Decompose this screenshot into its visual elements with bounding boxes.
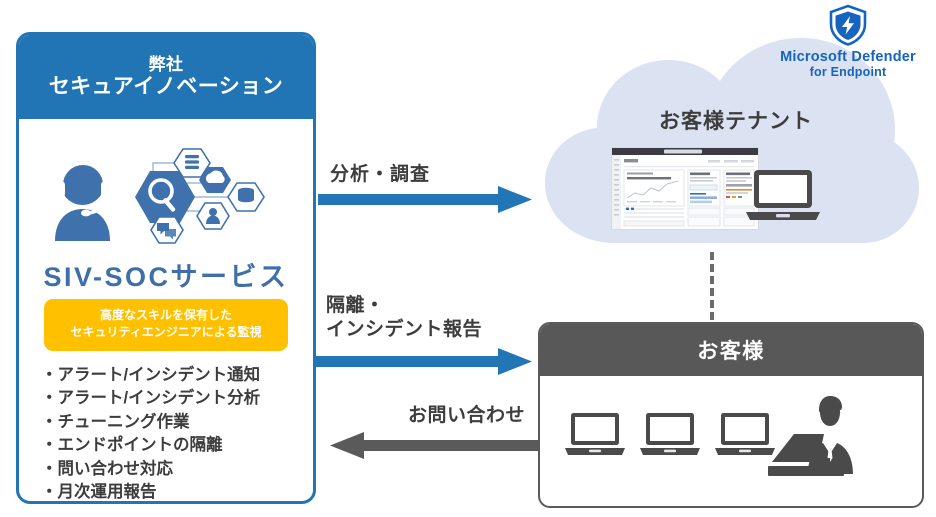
laptop-icon	[744, 168, 822, 224]
inquiry-arrow-icon	[330, 432, 542, 460]
skill-badge-line1: 高度なスキルを保有した	[48, 307, 284, 324]
person-working-icon	[768, 394, 880, 486]
company-panel-body: SIV-SOCサービス 高度なスキルを保有した セキュリティエンジニアによる監視…	[19, 119, 313, 501]
inquiry-arrow-label: お問い合わせ	[408, 404, 525, 428]
cloud-title: お客様テナント	[636, 105, 836, 135]
skill-badge-line2: セキュリティエンジニアによる監視	[48, 324, 284, 341]
defender-title: Microsoft Defender	[766, 49, 930, 65]
diagram-canvas: お客様テナント	[0, 0, 936, 517]
laptop-icon	[714, 412, 776, 456]
person-at-desk-icon	[768, 394, 880, 486]
company-name-line1: 弊社	[149, 55, 184, 75]
company-panel: 弊社 セキュアイノベーション	[16, 32, 316, 504]
skill-badge: 高度なスキルを保有した セキュリティエンジニアによる監視	[44, 299, 288, 351]
operator-headset-network-icon	[55, 141, 277, 247]
analysis-arrow-icon	[318, 186, 532, 214]
security-dashboard-screenshot	[611, 147, 759, 230]
service-feature-list: ・アラート/インシデント通知 ・アラート/インシデント分析 ・チューニング作業 …	[41, 364, 303, 504]
list-item: ・エンドポイントの隔離	[41, 434, 303, 457]
isolation-arrow-label: 隔離・ インシデント報告	[326, 294, 482, 342]
cloud-to-customer-dashed-line	[710, 252, 714, 320]
laptop-icon	[564, 412, 626, 456]
list-item: ・アラート/インシデント通知	[41, 364, 303, 387]
isolation-arrow-label-line2: インシデント報告	[326, 318, 482, 342]
microsoft-defender-logo: Microsoft Defender for Endpoint	[766, 4, 930, 88]
isolation-arrow-label-line1: 隔離・	[326, 294, 482, 318]
customer-box-header: お客様	[540, 324, 922, 376]
defender-subtitle: for Endpoint	[766, 65, 930, 79]
dashboard-thumbnail-icon	[612, 148, 758, 229]
list-item: ・問い合わせ対応	[41, 458, 303, 481]
isolation-arrow-icon	[314, 348, 532, 376]
customer-laptop-group	[564, 412, 776, 456]
cloud-laptop-icon	[744, 168, 822, 224]
service-brand-name: SIV-SOCサービス	[19, 255, 313, 294]
list-item: ・月次運用報告	[41, 481, 303, 504]
laptop-icon	[639, 412, 701, 456]
soc-illustration-icon	[55, 141, 277, 247]
list-item: ・チューニング作業	[41, 411, 303, 434]
shield-lightning-icon	[827, 4, 869, 46]
list-item: ・アラート/インシデント分析	[41, 387, 303, 410]
company-panel-header: 弊社 セキュアイノベーション	[19, 35, 313, 119]
customer-box: お客様	[538, 322, 924, 508]
analysis-arrow-label: 分析・調査	[330, 163, 430, 187]
company-name-line2: セキュアイノベーション	[49, 75, 284, 100]
customer-box-body	[540, 376, 922, 506]
